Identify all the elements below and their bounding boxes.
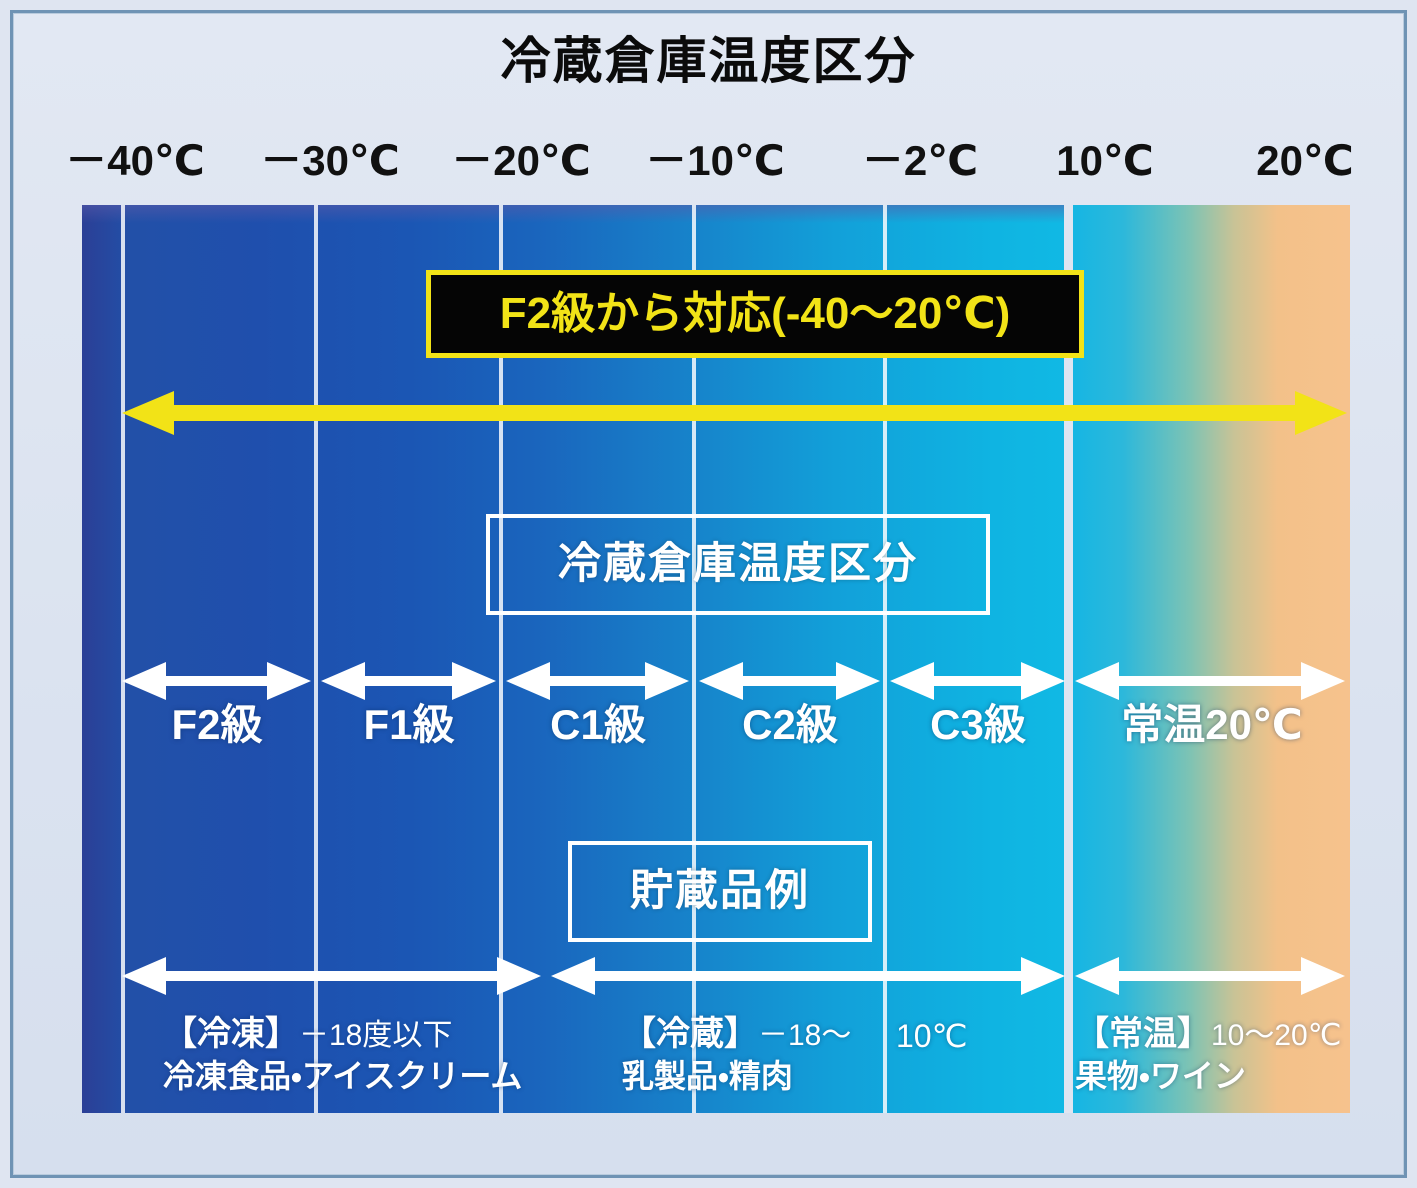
- storage-range-frozen: －18度以下: [299, 1019, 452, 1052]
- storage-items-ambient: 果物・ワイン: [1075, 1058, 1341, 1096]
- page-title: 冷蔵倉庫温度区分: [0, 36, 1417, 86]
- axis-tick-10: 10℃: [1056, 140, 1154, 182]
- axis-tick-minus2: －2℃: [862, 140, 978, 182]
- axis-tick-20: 20℃: [1256, 140, 1354, 182]
- storage-range-chilled: －18〜: [758, 1019, 851, 1052]
- callout-f2-support: F2級から対応(-40〜20℃): [426, 270, 1084, 358]
- full-range-arrow: [122, 389, 1347, 437]
- storage-arrow-ambient: [1075, 955, 1345, 997]
- storage-section-label: 貯蔵品例: [630, 870, 810, 913]
- storage-text-chilled: 【冷蔵】－18〜 乳製品・精肉: [622, 1014, 851, 1096]
- storage-arrow-chilled: [551, 955, 1065, 997]
- class-section-box: 冷蔵倉庫温度区分: [486, 514, 990, 615]
- axis-tick-minus20: －20℃: [451, 140, 591, 182]
- callout-text: F2級から対応(-40〜20℃): [500, 292, 1010, 336]
- storage-section-box: 貯蔵品例: [568, 841, 872, 942]
- storage-text-ambient: 【常温】10〜20℃ 果物・ワイン: [1075, 1014, 1341, 1096]
- storage-text-frozen: 【冷凍】－18度以下 冷凍食品・アイスクリーム: [163, 1014, 522, 1096]
- axis-tick-minus10: －10℃: [645, 140, 785, 182]
- axis-tick-minus30: －30℃: [260, 140, 400, 182]
- diagram-page: 冷蔵倉庫温度区分 －40℃ －30℃ －20℃ －10℃ －2℃ 10℃ 20℃…: [0, 0, 1417, 1188]
- storage-arrow-frozen: [122, 955, 541, 997]
- class-section-label: 冷蔵倉庫温度区分: [558, 543, 918, 586]
- storage-items-frozen: 冷凍食品・アイスクリーム: [163, 1058, 522, 1096]
- storage-range-chilled-upper: 10℃: [896, 1020, 968, 1052]
- storage-category-frozen: 【冷凍】: [163, 1015, 299, 1053]
- axis-tick-minus40: －40℃: [65, 140, 205, 182]
- temperature-axis: －40℃ －30℃ －20℃ －10℃ －2℃ 10℃ 20℃: [0, 140, 1417, 198]
- storage-items-chilled: 乳製品・精肉: [622, 1058, 851, 1096]
- storage-category-ambient: 【常温】: [1075, 1015, 1211, 1053]
- storage-range-ambient: 10〜20℃: [1211, 1019, 1341, 1052]
- storage-category-chilled: 【冷蔵】: [622, 1015, 758, 1053]
